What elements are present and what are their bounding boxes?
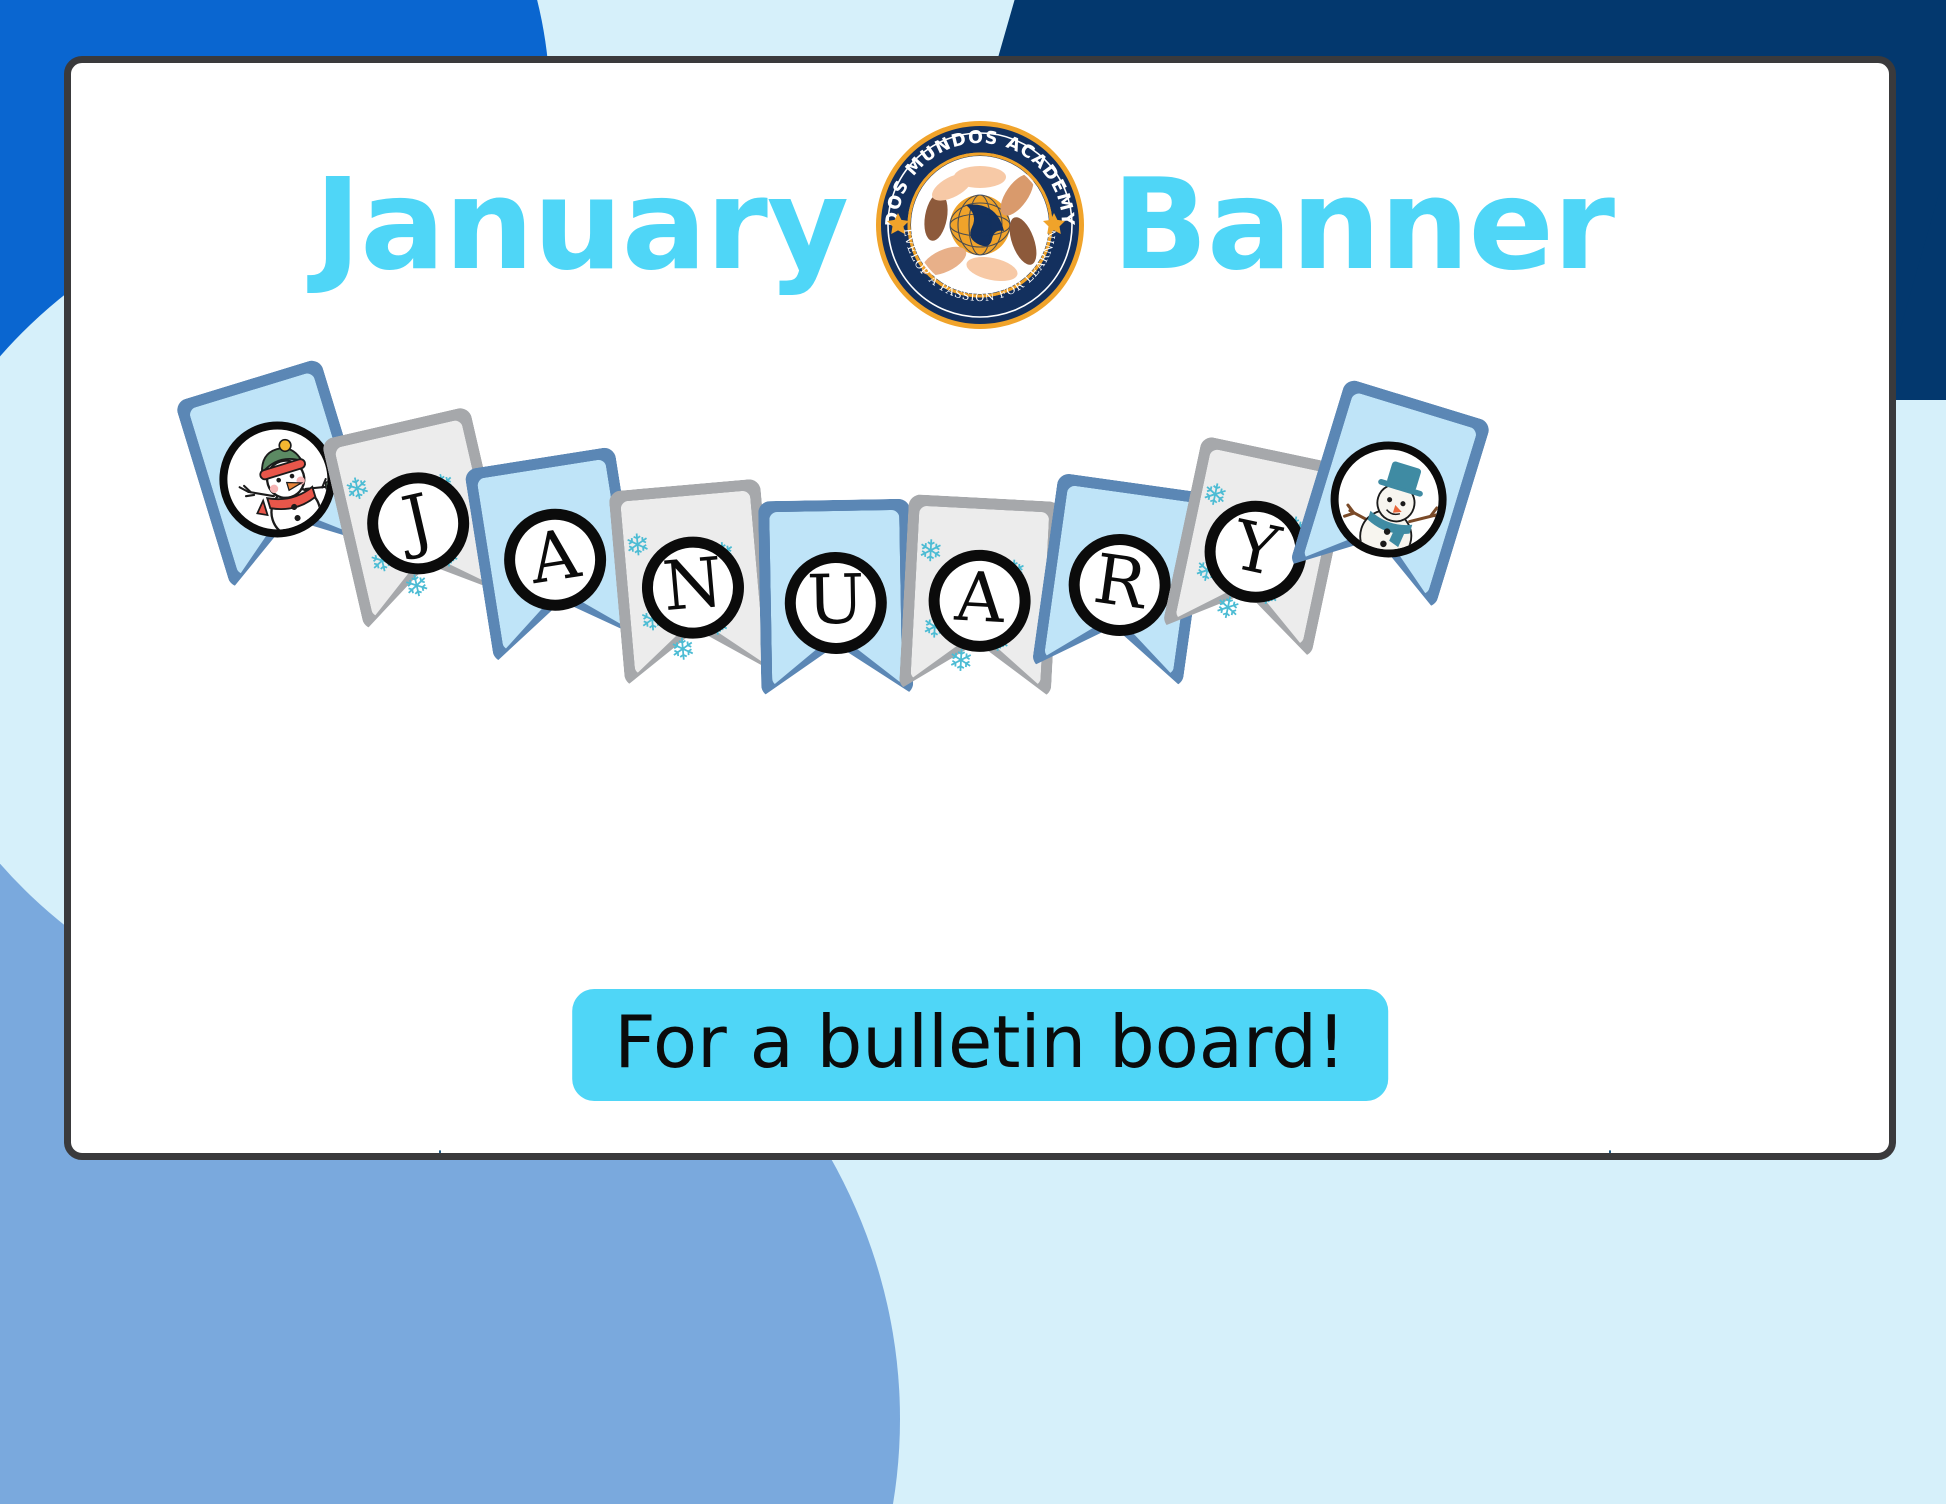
letter-glyph: A bbox=[525, 520, 584, 595]
caption-pill: For a bulletin board! bbox=[572, 989, 1388, 1101]
snowflake-cluster-right bbox=[1499, 1148, 1829, 1160]
dos-mundos-academy-logo: DOS MUNDOS ACADEMY DEVELOP A PASSION FOR… bbox=[874, 119, 1086, 331]
page-title-right: Banner bbox=[1112, 162, 1702, 288]
bunting-flag-letter-n-3: ❄❄❄❄❄N bbox=[608, 478, 777, 687]
caption-text: For a bulletin board! bbox=[614, 1000, 1346, 1084]
header: January bbox=[71, 125, 1889, 325]
letter-glyph: R bbox=[1090, 546, 1150, 620]
poster-canvas: January bbox=[0, 0, 1946, 1504]
poster-card: January bbox=[64, 56, 1896, 1160]
letter-glyph: N bbox=[660, 549, 725, 622]
january-bunting-banner: ❄❄❄❄❄JA❄❄❄❄❄NU❄❄❄❄❄AR❄❄❄❄❄Y bbox=[71, 318, 1889, 678]
snowflake-icon bbox=[414, 1148, 466, 1160]
snowflake-icon bbox=[1584, 1148, 1636, 1160]
letter-glyph: U bbox=[807, 566, 865, 635]
letter-glyph: J bbox=[397, 485, 439, 557]
letter-glyph: Y bbox=[1227, 512, 1285, 588]
page-title-left: January bbox=[258, 162, 848, 288]
bunting-flag-letter-u-4: U bbox=[758, 499, 913, 698]
letter-glyph: A bbox=[953, 564, 1006, 634]
snowflake-cluster-left bbox=[221, 1148, 551, 1160]
